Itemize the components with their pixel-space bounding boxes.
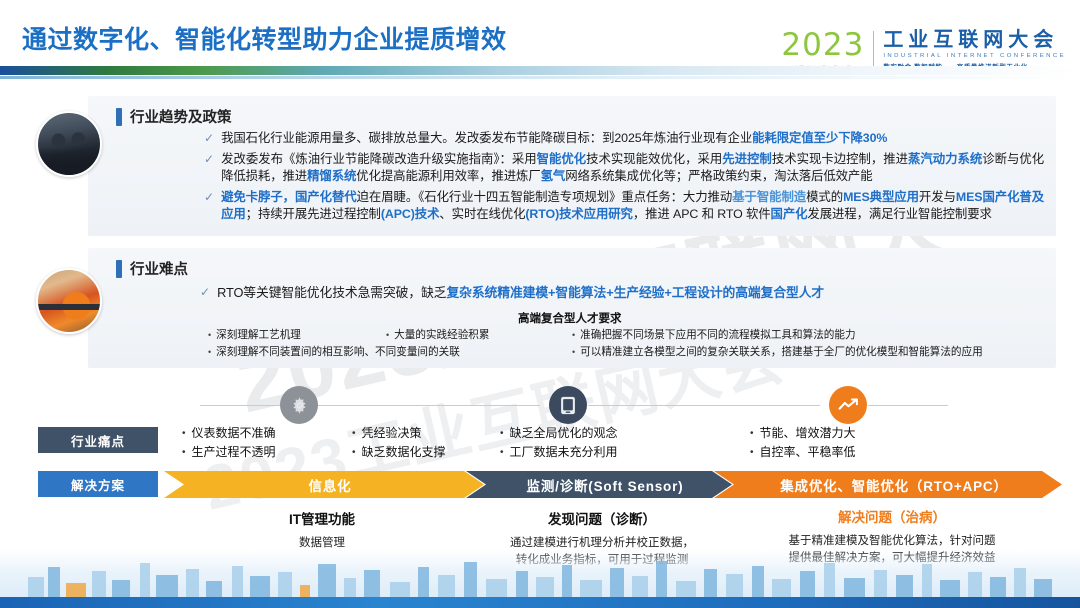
list-item: • 生产过程不透明 — [182, 443, 276, 462]
stage-chevron-monitoring: 监测/诊断(Soft Sensor) — [466, 471, 732, 498]
panel-accent-bar — [116, 260, 122, 278]
panel-trends-header: 行业趋势及政策 — [116, 106, 232, 127]
slide-header: 通过数字化、智能化转型助力企业提质增效 2023 中国·苏州 8月14日-16日… — [0, 0, 1080, 84]
text-segment: 优化提高能源利用效率，推进炼厂 — [356, 169, 540, 183]
list-item: • 节能、增效潜力大 — [750, 424, 856, 443]
list-item: • 深刻理解工艺机理 — [208, 327, 386, 344]
panel-accent-bar — [116, 108, 122, 126]
logo-text-block: 工业互联网大会 INDUSTRIAL INTERNET CONFERENCE 数… — [883, 30, 1066, 71]
bullet-dot-icon: • — [750, 424, 754, 443]
text-segment: (APC)技术 — [381, 207, 440, 221]
pain-column-3: • 缺乏全局优化的观念 • 工厂数据未充分利用 — [500, 424, 618, 462]
text-segment: 复杂系统精准建模+智能算法+生产经验+工程设计的高端复合型人才 — [446, 285, 824, 300]
pain-item-text: 仪表数据不准确 — [192, 424, 276, 443]
stage-title: 解决问题（治病） — [722, 506, 1062, 526]
bullet-dot-icon: • — [500, 443, 504, 462]
pain-item-text: 缺乏数据化支撑 — [362, 443, 446, 462]
talent-item-text: 可以精准建立各模型之间的复杂关联关系，搭建基于全厂的优化模型和智能算法的应用 — [580, 344, 983, 361]
row-label-solutions: 解决方案 — [38, 471, 158, 497]
pain-item-text: 节能、增效潜力大 — [760, 424, 856, 443]
text-segment: ，推进 APC 和 RTO 软件 — [633, 207, 771, 221]
panel-pain-title: 行业难点 — [130, 258, 188, 279]
text-segment: 发改委发布《炼油行业节能降碳改造升级实施指南》：采用 — [221, 152, 537, 166]
text-segment: 网络系统集成优化等；严格政策约束，淘汰落后低效产能 — [565, 169, 872, 183]
bullet-dot-icon: • — [352, 443, 356, 462]
talent-item-text: 大量的实践经验积累 — [394, 327, 489, 344]
talent-requirements-title: 高端复合型人才要求 — [518, 310, 622, 326]
footer-blue-bar — [0, 597, 1080, 608]
stage-chevron-optimization: 集成优化、智能优化（RTO+APC） — [714, 471, 1062, 498]
stage-detail-informatization: IT管理功能 数据管理 — [172, 508, 472, 552]
bullet-dot-icon: • — [182, 443, 186, 462]
slide-root: 通过数字化、智能化转型助力企业提质增效 2023 中国·苏州 8月14日-16日… — [0, 0, 1080, 608]
footer-cityscape — [0, 550, 1080, 608]
flow-connector-line — [318, 405, 540, 406]
panel-industry-difficulties: 行业难点 ✓ RTO等关键智能优化技术急需突破，缺乏复杂系统精准建模+智能算法+… — [88, 248, 1056, 368]
text-segment: (RTO)技术应用研究 — [525, 207, 632, 221]
list-item: ✓ 避免卡脖子，国产化替代迫在眉睫。《石化行业十四五智能制造专项规划》重点任务：… — [204, 189, 1044, 224]
text-segment: 避免卡脖子，国产化替代 — [221, 190, 357, 204]
talent-column-c: • 准确把握不同场景下应用不同的流程模拟工具和算法的能力 • 可以精准建立各模型… — [572, 327, 1038, 360]
logo-name-cn: 工业互联网大会 — [883, 30, 1066, 51]
avatar-industry-photo-1 — [36, 111, 102, 177]
row-label-pain-points: 行业痛点 — [38, 427, 158, 453]
text-segment: 模式的 — [806, 190, 843, 204]
avatar-industry-photo-2 — [36, 268, 102, 334]
list-item: ✓ RTO等关键智能优化技术急需突破，缺乏复杂系统精准建模+智能算法+生产经验+… — [200, 284, 1042, 302]
pain-item-text: 缺乏全局优化的观念 — [510, 424, 618, 443]
text-segment: 精馏系统 — [307, 169, 356, 183]
bullet-dot-icon: • — [750, 443, 754, 462]
bullet-dot-icon: • — [500, 424, 504, 443]
text-segment: RTO等关键智能优化技术急需突破，缺乏 — [217, 285, 446, 300]
text-segment: 技术实现能效优化，采用 — [586, 152, 722, 166]
bullet-dot-icon: • — [386, 327, 389, 344]
stage-title: 发现问题（诊断） — [452, 508, 752, 528]
panel-pain-header: 行业难点 — [116, 258, 188, 279]
check-icon: ✓ — [204, 151, 214, 168]
text-segment: 、实时在线优化 — [439, 207, 525, 221]
logo-divider — [873, 31, 874, 71]
logo-year: 2023 — [781, 30, 864, 61]
list-item: • 准确把握不同场景下应用不同的流程模拟工具和算法的能力 — [572, 327, 1038, 344]
pain-column-1: • 仪表数据不准确 • 生产过程不透明 — [182, 424, 276, 462]
check-icon: ✓ — [204, 130, 214, 147]
bullet-dot-icon: • — [352, 424, 356, 443]
list-item: • 工厂数据未充分利用 — [500, 443, 618, 462]
list-item: ✓ 发改委发布《炼油行业节能降碳改造升级实施指南》：采用智能优化技术实现能效优化… — [204, 151, 1044, 186]
talent-item-text: 准确把握不同场景下应用不同的流程模拟工具和算法的能力 — [580, 327, 855, 344]
monitor-icon — [549, 386, 587, 424]
check-icon: ✓ — [200, 284, 210, 301]
bullet-dot-icon: • — [572, 327, 575, 344]
text-segment: 迫在眉睫。《石化行业十四五智能制造专项规划》重点任务：大力推动 — [357, 190, 733, 204]
bullet-text: 我国石化行业能源用量多、碳排放总量大。发改委发布节能降碳目标：到2025年炼油行… — [221, 130, 887, 148]
text-segment: 先进控制 — [722, 152, 772, 166]
bullet-dot-icon: • — [208, 344, 211, 361]
talent-requirements-columns: • 深刻理解工艺机理 • 深刻理解不同装置间的相互影响、不同变量间的关联 • 大… — [208, 327, 1038, 360]
bullet-text: RTO等关键智能优化技术急需突破，缺乏复杂系统精准建模+智能算法+生产经验+工程… — [217, 284, 824, 302]
list-item: • 缺乏全局优化的观念 — [500, 424, 618, 443]
pain-item-text: 凭经验决策 — [362, 424, 422, 443]
stage-chevron-informatization: 信息化 — [164, 471, 484, 498]
list-item: • 深刻理解不同装置间的相互影响、不同变量间的关联 — [208, 344, 386, 361]
list-item: ✓ 我国石化行业能源用量多、碳排放总量大。发改委发布节能降碳目标：到2025年炼… — [204, 130, 1044, 148]
list-item: • 大量的实践经验积累 — [386, 327, 572, 344]
text-segment: ；持续开展先进过程控制 — [246, 207, 381, 221]
header-gradient-rule-secondary — [0, 76, 1080, 79]
logo-name-en: INDUSTRIAL INTERNET CONFERENCE — [883, 53, 1066, 59]
conference-logo: 2023 中国·苏州 8月14日-16日 工业互联网大会 INDUSTRIAL … — [781, 30, 1066, 71]
header-gradient-rule — [0, 66, 1080, 75]
flow-connector-line — [200, 405, 280, 406]
panel-industry-trends: 行业趋势及政策 ✓ 我国石化行业能源用量多、碳排放总量大。发改委发布节能降碳目标… — [88, 96, 1056, 236]
bullet-dot-icon: • — [572, 344, 575, 361]
list-item: • 自控率、平稳率低 — [750, 443, 856, 462]
bullet-text: 避免卡脖子，国产化替代迫在眉睫。《石化行业十四五智能制造专项规划》重点任务：大力… — [221, 189, 1044, 224]
talent-column-a: • 深刻理解工艺机理 • 深刻理解不同装置间的相互影响、不同变量间的关联 — [208, 327, 386, 360]
pain-bullet-list: ✓ RTO等关键智能优化技术急需突破，缺乏复杂系统精准建模+智能算法+生产经验+… — [200, 284, 1042, 305]
pain-item-text: 工厂数据未充分利用 — [510, 443, 618, 462]
text-segment: 我国石化行业能源用量多、碳排放总量大。发改委发布节能降碳目标：到2025年炼油行… — [221, 131, 752, 145]
bullet-text: 发改委发布《炼油行业节能降碳改造升级实施指南》：采用智能优化技术实现能效优化，采… — [221, 151, 1044, 186]
text-segment: 蒸汽动力系统 — [908, 152, 982, 166]
pain-column-2: • 凭经验决策 • 缺乏数据化支撑 — [352, 424, 446, 462]
text-segment: 技术实现卡边控制，推进 — [772, 152, 908, 166]
flow-connector-line — [868, 405, 948, 406]
pain-column-4: • 节能、增效潜力大 • 自控率、平稳率低 — [750, 424, 856, 462]
flow-connector-line — [588, 405, 820, 406]
list-item: • 凭经验决策 — [352, 424, 446, 443]
text-segment: 国产化 — [771, 207, 808, 221]
talent-item-text: 深刻理解工艺机理 — [216, 327, 301, 344]
text-segment: 开发与 — [919, 190, 956, 204]
gear-icon — [280, 386, 318, 424]
panel-trends-title: 行业趋势及政策 — [130, 106, 232, 127]
page-title: 通过数字化、智能化转型助力企业提质增效 — [22, 20, 507, 56]
check-icon: ✓ — [204, 189, 214, 206]
list-item: • 仪表数据不准确 — [182, 424, 276, 443]
trends-bullet-list: ✓ 我国石化行业能源用量多、碳排放总量大。发改委发布节能降碳目标：到2025年炼… — [204, 130, 1044, 227]
list-item: • 可以精准建立各模型之间的复杂关联关系，搭建基于全厂的优化模型和智能算法的应用 — [572, 344, 1038, 361]
text-segment: MES典型应用 — [843, 190, 919, 204]
talent-column-b: • 大量的实践经验积累 — [386, 327, 572, 360]
text-segment: 智能优化 — [537, 152, 587, 166]
pain-item-text: 自控率、平稳率低 — [760, 443, 856, 462]
text-segment: 氢气 — [541, 169, 566, 183]
text-segment: 能耗限定值至少下降30% — [752, 131, 887, 145]
bullet-dot-icon: • — [208, 327, 211, 344]
bullet-dot-icon: • — [182, 424, 186, 443]
text-segment: 发展进程，满足行业智能控制要求 — [807, 207, 991, 221]
text-segment: 基于智能制造 — [732, 190, 806, 204]
logo-year-block: 2023 中国·苏州 8月14日-16日 — [781, 30, 864, 71]
list-item: • 缺乏数据化支撑 — [352, 443, 446, 462]
stage-title: IT管理功能 — [172, 508, 472, 528]
pain-item-text: 生产过程不透明 — [192, 443, 276, 462]
trend-up-icon — [829, 386, 867, 424]
